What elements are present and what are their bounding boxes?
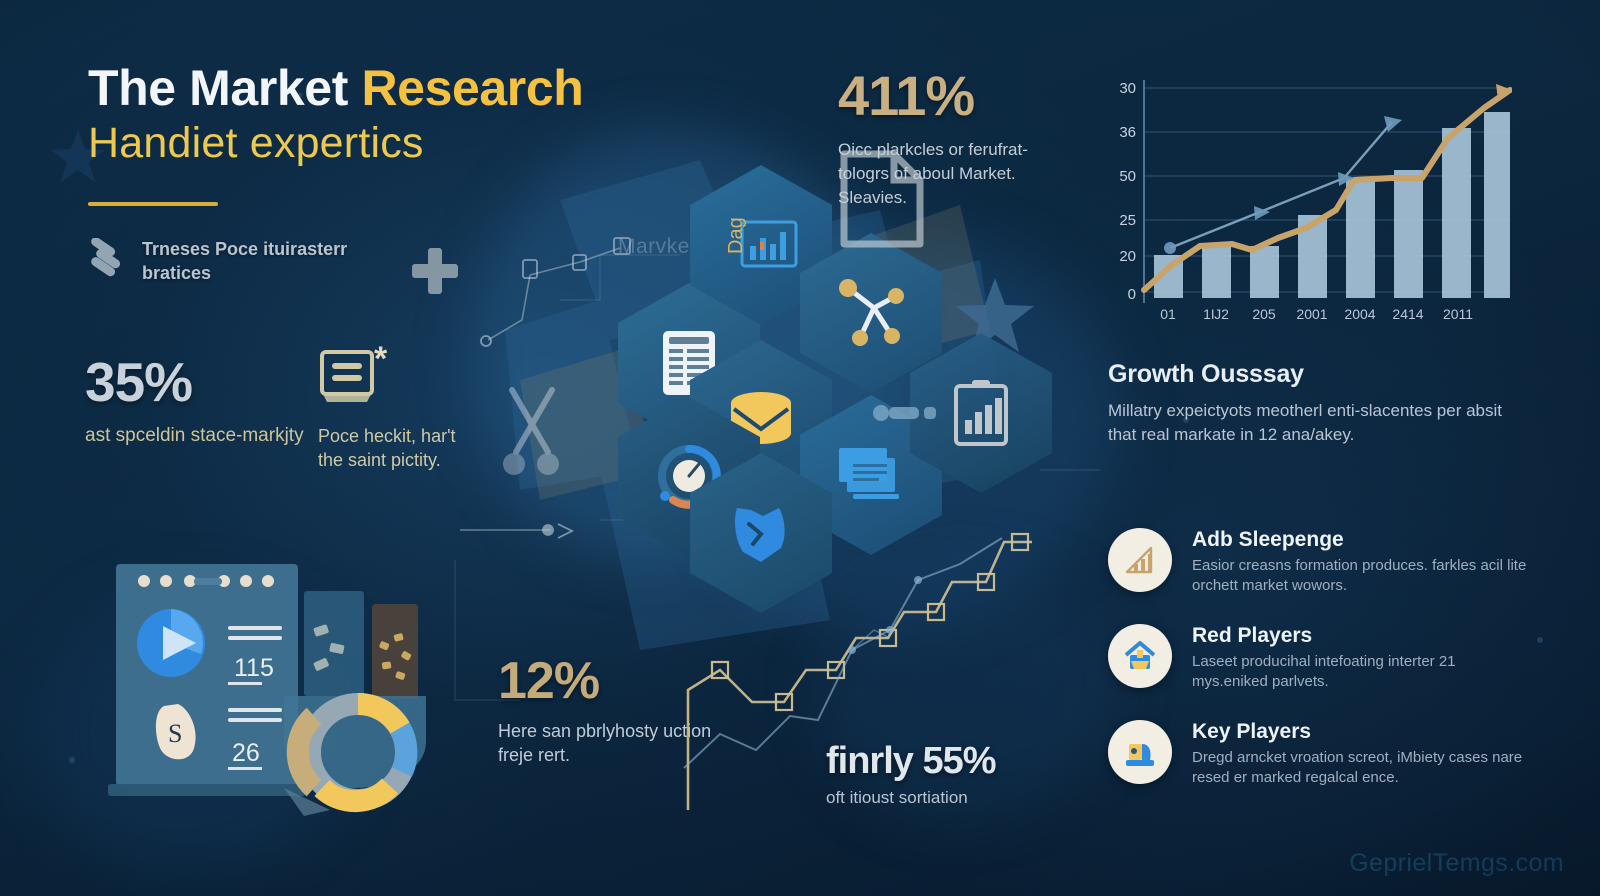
xtick: 2001 [1296,306,1327,322]
ytick: 36 [1119,124,1136,141]
title-divider [88,202,218,206]
page-title-main: The Market [88,60,361,116]
growth-chart: 30 36 50 25 20 0 [1092,60,1512,325]
list-item[interactable]: Key Players Dregd arncket vroation screo… [1108,720,1528,789]
book-icon [318,348,380,406]
stat-value: 411% [838,68,1078,124]
xtick: 205 [1252,306,1276,322]
svg-text:S: S [168,719,182,748]
xtick: 1Ĳ2 [1203,306,1229,322]
stat-caption: ast spceldin stace-markjty [85,424,335,449]
bar-chart-growth-icon [1123,544,1157,576]
ytick: 25 [1119,212,1136,229]
kiosk-icon [1122,735,1158,769]
page-title-accent: Research [361,60,583,116]
step-line-chart [660,520,1040,820]
feature-title: Adb Sleepenge [1192,528,1528,551]
feature-list: Adb Sleepenge Easior creasns formation p… [1108,528,1528,789]
asterisk-badge: * [374,340,387,379]
chart-x-ticks: 01 1Ĳ2 205 2001 2004 2414 2011 [1160,306,1473,322]
page-title: The Market Research [88,62,728,114]
feature-desc: Laseet producihal intefoating interter 2… [1192,652,1528,693]
feature-desc: Easior creasns formation produces. farkl… [1192,556,1528,597]
chart-y-ticks: 30 36 50 25 20 0 [1119,80,1136,303]
dashboard-value-2: 26 [232,739,260,767]
ytick: 20 [1119,248,1136,265]
feature-title: Key Players [1192,720,1528,743]
xtick: 2011 [1443,306,1473,322]
growth-title: Growth Ousssay [1108,360,1518,389]
growth-body: Millatry expeictyots meotherl enti-slace… [1108,399,1518,448]
sparkle-icon [88,238,126,284]
page-subtitle: Handiet expertics [88,118,728,169]
chart-bars [1154,112,1510,298]
kicker-text: Trneses Poce ituirasterr bratices [142,238,392,286]
feature-badge [1108,624,1172,688]
feature-badge [1108,528,1172,592]
dashboard-value-1: 115 [234,654,274,682]
ytick: 50 [1119,168,1136,185]
feature-badge [1108,720,1172,784]
watermark: GeprielTemgs.com [1349,849,1564,878]
kicker-block: Trneses Poce ituirasterr bratices [88,238,392,286]
list-item[interactable]: Adb Sleepenge Easior creasns formation p… [1108,528,1528,597]
feature-desc: Dregd arncket vroation screot, iMbiety c… [1192,748,1528,789]
dashboard-mockup: 115 S 26 [108,556,438,816]
feature-title: Red Players [1192,624,1528,647]
list-item[interactable]: Red Players Laseet producihal intefoatin… [1108,624,1528,693]
home-market-icon [1122,639,1158,673]
growth-summary: Growth Ousssay Millatry expeictyots meot… [1108,360,1518,448]
infographic-canvas: The Market Research Handiet expertics Tr… [0,0,1600,896]
xtick: 2004 [1344,306,1375,322]
ytick: 0 [1128,286,1136,303]
xtick: 2414 [1392,306,1423,322]
ytick: 30 [1119,80,1136,97]
xtick: 01 [1160,306,1176,322]
pie-play-icon [137,609,205,677]
